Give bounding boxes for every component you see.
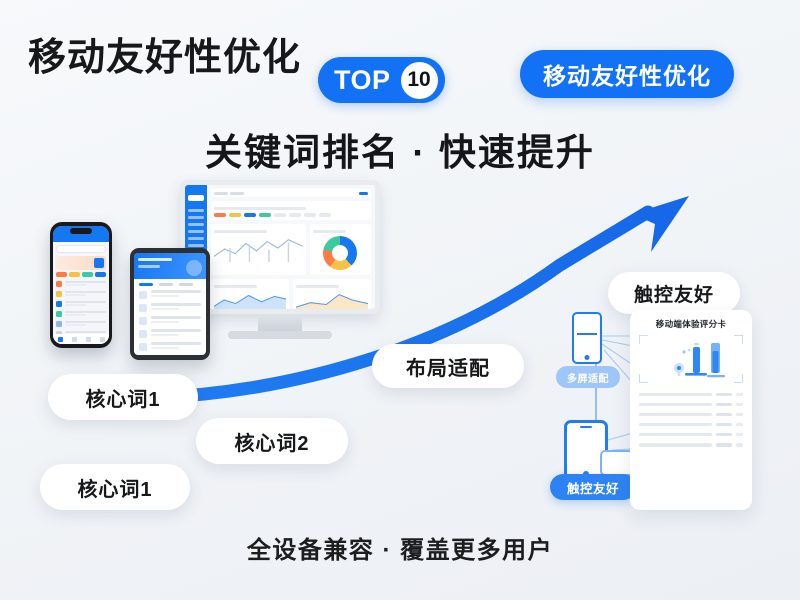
dashboard-area-chart-2 xyxy=(293,279,371,309)
table-row xyxy=(637,440,745,450)
tablet-hero-banner xyxy=(134,253,206,279)
diagram-phone-small-icon xyxy=(572,312,602,364)
phone-tabbar[interactable] xyxy=(53,334,109,344)
list-item xyxy=(134,353,206,355)
diagram-label-touch: 触控友好 xyxy=(550,474,636,500)
top-rank-badge: TOP 10 xyxy=(318,57,445,103)
dashboard-area-chart-1 xyxy=(211,279,289,309)
dashboard-line-chart xyxy=(211,224,306,275)
top-badge-number: 10 xyxy=(401,62,438,99)
diagram-laptop-icon xyxy=(600,450,634,476)
phone-category-chips xyxy=(53,272,109,279)
table-row xyxy=(637,409,745,419)
desktop-monitor-mockup xyxy=(180,180,380,340)
phone-promo-banner xyxy=(56,256,106,270)
monitor-stand-neck xyxy=(258,314,302,331)
page-subtitle: 关键词排名 · 快速提升 xyxy=(0,122,800,176)
tablet-screen xyxy=(134,253,206,355)
tablet-nav xyxy=(134,279,206,288)
layout-fit-pill[interactable]: 布局适配 xyxy=(372,344,524,388)
list-item xyxy=(53,319,109,329)
list-item xyxy=(53,289,109,299)
top-badge-label: TOP xyxy=(334,67,401,94)
tablet-mockup xyxy=(130,248,210,360)
banner-canvas: 移动友好性优化 TOP 10 移动友好性优化 关键词排名 · 快速提升 xyxy=(0,0,800,600)
monitor-stand-foot xyxy=(228,331,332,339)
monitor-bezel xyxy=(180,180,380,314)
keyword-pill-1[interactable]: 核心词1 xyxy=(48,374,198,420)
corner-tag-badge: 移动友好性优化 xyxy=(520,50,734,98)
phone-screen xyxy=(53,226,109,344)
diagram-label-multiscreen: 多屏适配 xyxy=(556,366,620,388)
keyword-pill-2[interactable]: 核心词2 xyxy=(196,418,348,464)
dashboard-body xyxy=(207,185,375,309)
list-item xyxy=(134,314,206,327)
table-row xyxy=(637,430,745,440)
device-mockup-group xyxy=(30,180,370,395)
list-item xyxy=(134,301,206,314)
list-item xyxy=(53,309,109,319)
table-row xyxy=(637,389,745,399)
keyword-pill-3[interactable]: 核心词1 xyxy=(40,464,190,510)
table-row xyxy=(637,399,745,409)
list-item xyxy=(53,299,109,309)
list-item xyxy=(53,279,109,289)
table-row xyxy=(637,420,745,430)
footer-caption: 全设备兼容 · 覆盖更多用户 xyxy=(0,530,800,565)
search-input[interactable] xyxy=(56,245,106,253)
mobile-experience-scorecard: 移动端体验评分卡 xyxy=(630,310,752,510)
smartphone-mockup xyxy=(50,222,112,348)
page-title: 移动友好性优化 xyxy=(28,26,301,81)
scorecard-chart xyxy=(637,335,745,383)
scorecard-title: 移动端体验评分卡 xyxy=(637,318,745,330)
monitor-screen xyxy=(185,185,375,309)
dashboard-filter-card xyxy=(211,201,371,220)
dashboard-topbar xyxy=(211,189,371,197)
phone-notch xyxy=(70,228,92,234)
list-item xyxy=(134,288,206,301)
scorecard-metric-list xyxy=(637,389,745,450)
list-item xyxy=(134,340,206,353)
dashboard-donut-chart xyxy=(310,224,371,275)
list-item xyxy=(134,327,206,340)
